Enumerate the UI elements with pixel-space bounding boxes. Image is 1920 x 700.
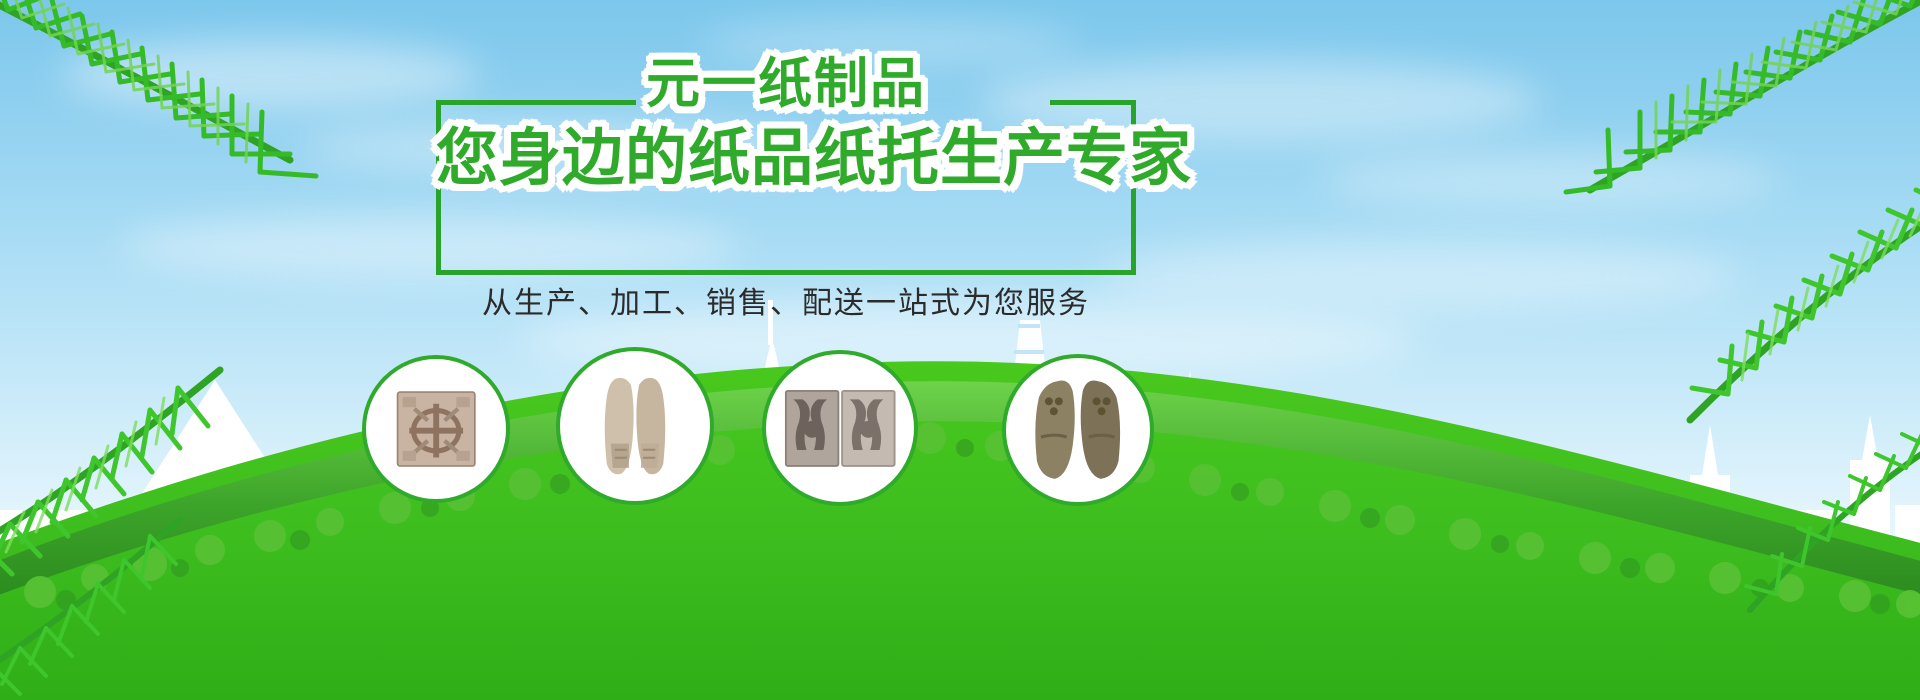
headline-line-1: 元一纸制品 bbox=[436, 56, 1136, 112]
palm-frond-icon bbox=[0, 0, 380, 270]
headline-line-2: 您身边的纸品纸托生产专家 bbox=[436, 126, 1136, 190]
product-photo-3 bbox=[784, 384, 896, 473]
product-circle-4[interactable] bbox=[1002, 354, 1154, 506]
headline-frame: 元一纸制品 您身边的纸品纸托生产专家 bbox=[436, 100, 1136, 275]
palm-frond-icon bbox=[1710, 420, 1920, 640]
product-circle-2[interactable] bbox=[556, 347, 714, 505]
frame-bottom-rule bbox=[436, 270, 1136, 275]
promo-banner: 元一纸制品 您身边的纸品纸托生产专家 从生产、加工、销售、配送一站式为您服务 bbox=[0, 0, 1920, 700]
product-photo-2 bbox=[578, 371, 692, 482]
tagline: 从生产、加工、销售、配送一站式为您服务 bbox=[436, 286, 1136, 322]
product-circle-3[interactable] bbox=[762, 350, 918, 506]
product-photo-1 bbox=[383, 387, 489, 471]
product-photo-4 bbox=[1023, 374, 1132, 486]
palm-frond-icon bbox=[0, 480, 210, 700]
product-circle-1[interactable] bbox=[362, 355, 510, 503]
